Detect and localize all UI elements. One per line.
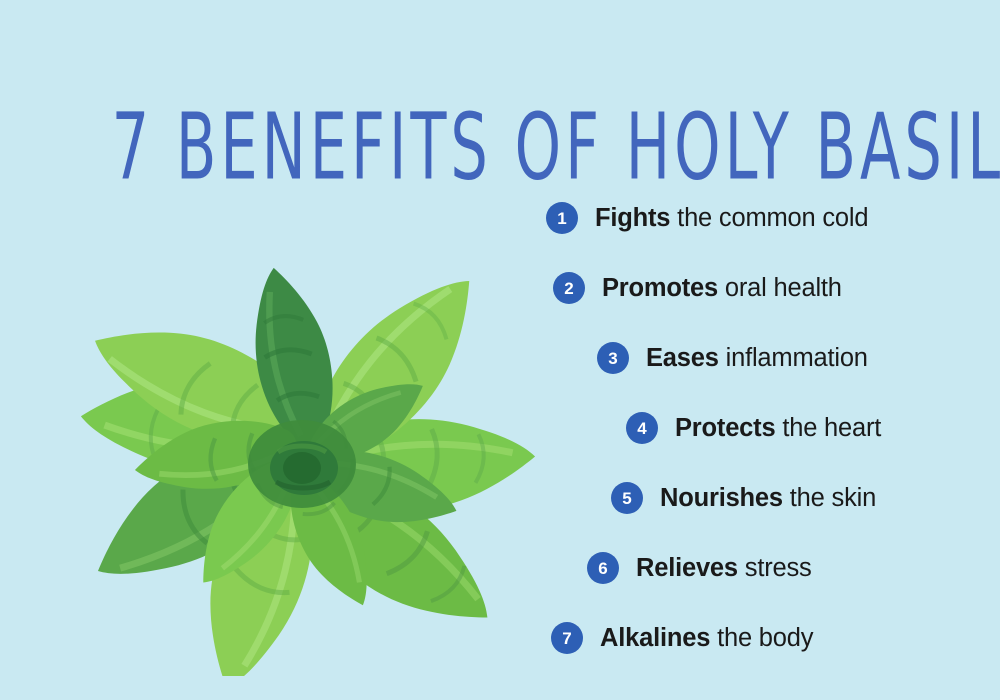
list-item: 1 Fights the common cold	[546, 196, 868, 240]
list-item: 6 Relieves stress	[587, 546, 812, 590]
benefit-rest: the heart	[775, 414, 881, 442]
benefit-lead: Relieves	[636, 554, 738, 582]
benefit-lead: Promotes	[602, 274, 718, 302]
benefit-lead: Alkalines	[600, 624, 710, 652]
number-badge: 7	[551, 622, 583, 654]
list-item: 7 Alkalines the body	[551, 616, 813, 660]
benefit-rest: the body	[710, 624, 813, 652]
number-badge: 3	[597, 342, 629, 374]
number-badge: 2	[553, 272, 585, 304]
list-item: 4 Protects the heart	[626, 406, 881, 450]
benefit-rest: stress	[738, 554, 812, 582]
benefit-lead: Nourishes	[660, 484, 783, 512]
benefit-rest: inflammation	[719, 344, 868, 372]
benefit-rest: oral health	[718, 274, 842, 302]
benefit-text: Relieves stress	[636, 554, 812, 583]
benefit-text: Protects the heart	[675, 414, 881, 443]
benefit-text: Fights the common cold	[595, 204, 868, 233]
infographic-poster: 7 BENEFITS OF HOLY BASIL	[0, 0, 1000, 700]
benefit-lead: Protects	[675, 414, 775, 442]
benefit-text: Alkalines the body	[600, 624, 813, 653]
number-badge: 5	[611, 482, 643, 514]
benefit-lead: Eases	[646, 344, 719, 372]
benefits-list: 1 Fights the common cold 2 Promotes oral…	[500, 186, 970, 686]
benefit-lead: Fights	[595, 204, 670, 232]
number-badge: 6	[587, 552, 619, 584]
benefit-text: Promotes oral health	[602, 274, 842, 303]
benefit-rest: the skin	[783, 484, 876, 512]
benefit-rest: the common cold	[670, 204, 868, 232]
benefit-text: Eases inflammation	[646, 344, 868, 373]
list-item: 2 Promotes oral health	[553, 266, 842, 310]
list-item: 3 Eases inflammation	[597, 336, 868, 380]
page-title: 7 BENEFITS OF HOLY BASIL	[112, 101, 1000, 195]
list-item: 5 Nourishes the skin	[611, 476, 876, 520]
benefit-text: Nourishes the skin	[660, 484, 876, 513]
number-badge: 4	[626, 412, 658, 444]
number-badge: 1	[546, 202, 578, 234]
holy-basil-illustration	[52, 196, 552, 676]
